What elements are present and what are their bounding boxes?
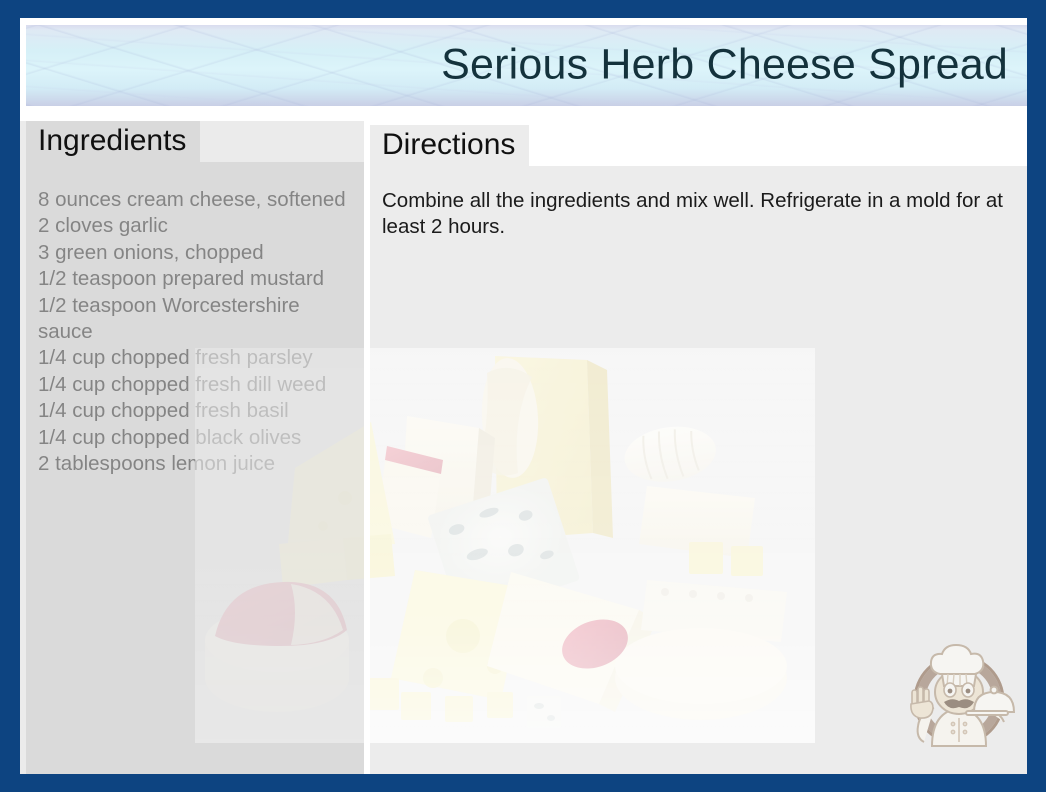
list-item: 1/4 cup chopped black olives	[38, 425, 364, 451]
list-item: 8 ounces cream cheese, softened	[38, 187, 364, 213]
list-item: 1/2 teaspoon Worcestershire	[38, 293, 364, 319]
recipe-title: Serious Herb Cheese Spread	[441, 43, 1008, 86]
list-item: 1/4 cup chopped fresh parsley	[38, 345, 364, 371]
list-item: 1/4 cup chopped fresh basil	[38, 398, 364, 424]
title-banner: Serious Herb Cheese Spread	[26, 25, 1027, 106]
list-item: 2 cloves garlic	[38, 213, 364, 239]
list-item: 2 tablespoons lemon juice	[38, 451, 364, 477]
list-item: 3 green onions, chopped	[38, 240, 364, 266]
directions-body-text: Combine all the ingredients and mix well…	[382, 188, 1006, 240]
ingredients-list: 8 ounces cream cheese, softened 2 cloves…	[38, 187, 364, 477]
ingredients-panel: 8 ounces cream cheese, softened 2 cloves…	[26, 162, 364, 774]
recipe-card: Serious Herb Cheese Spread	[0, 0, 1046, 792]
recipe-page: Serious Herb Cheese Spread	[20, 18, 1027, 774]
column-divider	[364, 121, 370, 774]
directions-tab[interactable]: Directions	[370, 125, 529, 166]
list-item: 1/2 teaspoon prepared mustard	[38, 266, 364, 292]
list-item: 1/4 cup chopped fresh dill weed	[38, 372, 364, 398]
directions-panel: Combine all the ingredients and mix well…	[370, 166, 1027, 774]
list-item: sauce	[38, 319, 364, 345]
ingredients-tab[interactable]: Ingredients	[26, 121, 200, 162]
